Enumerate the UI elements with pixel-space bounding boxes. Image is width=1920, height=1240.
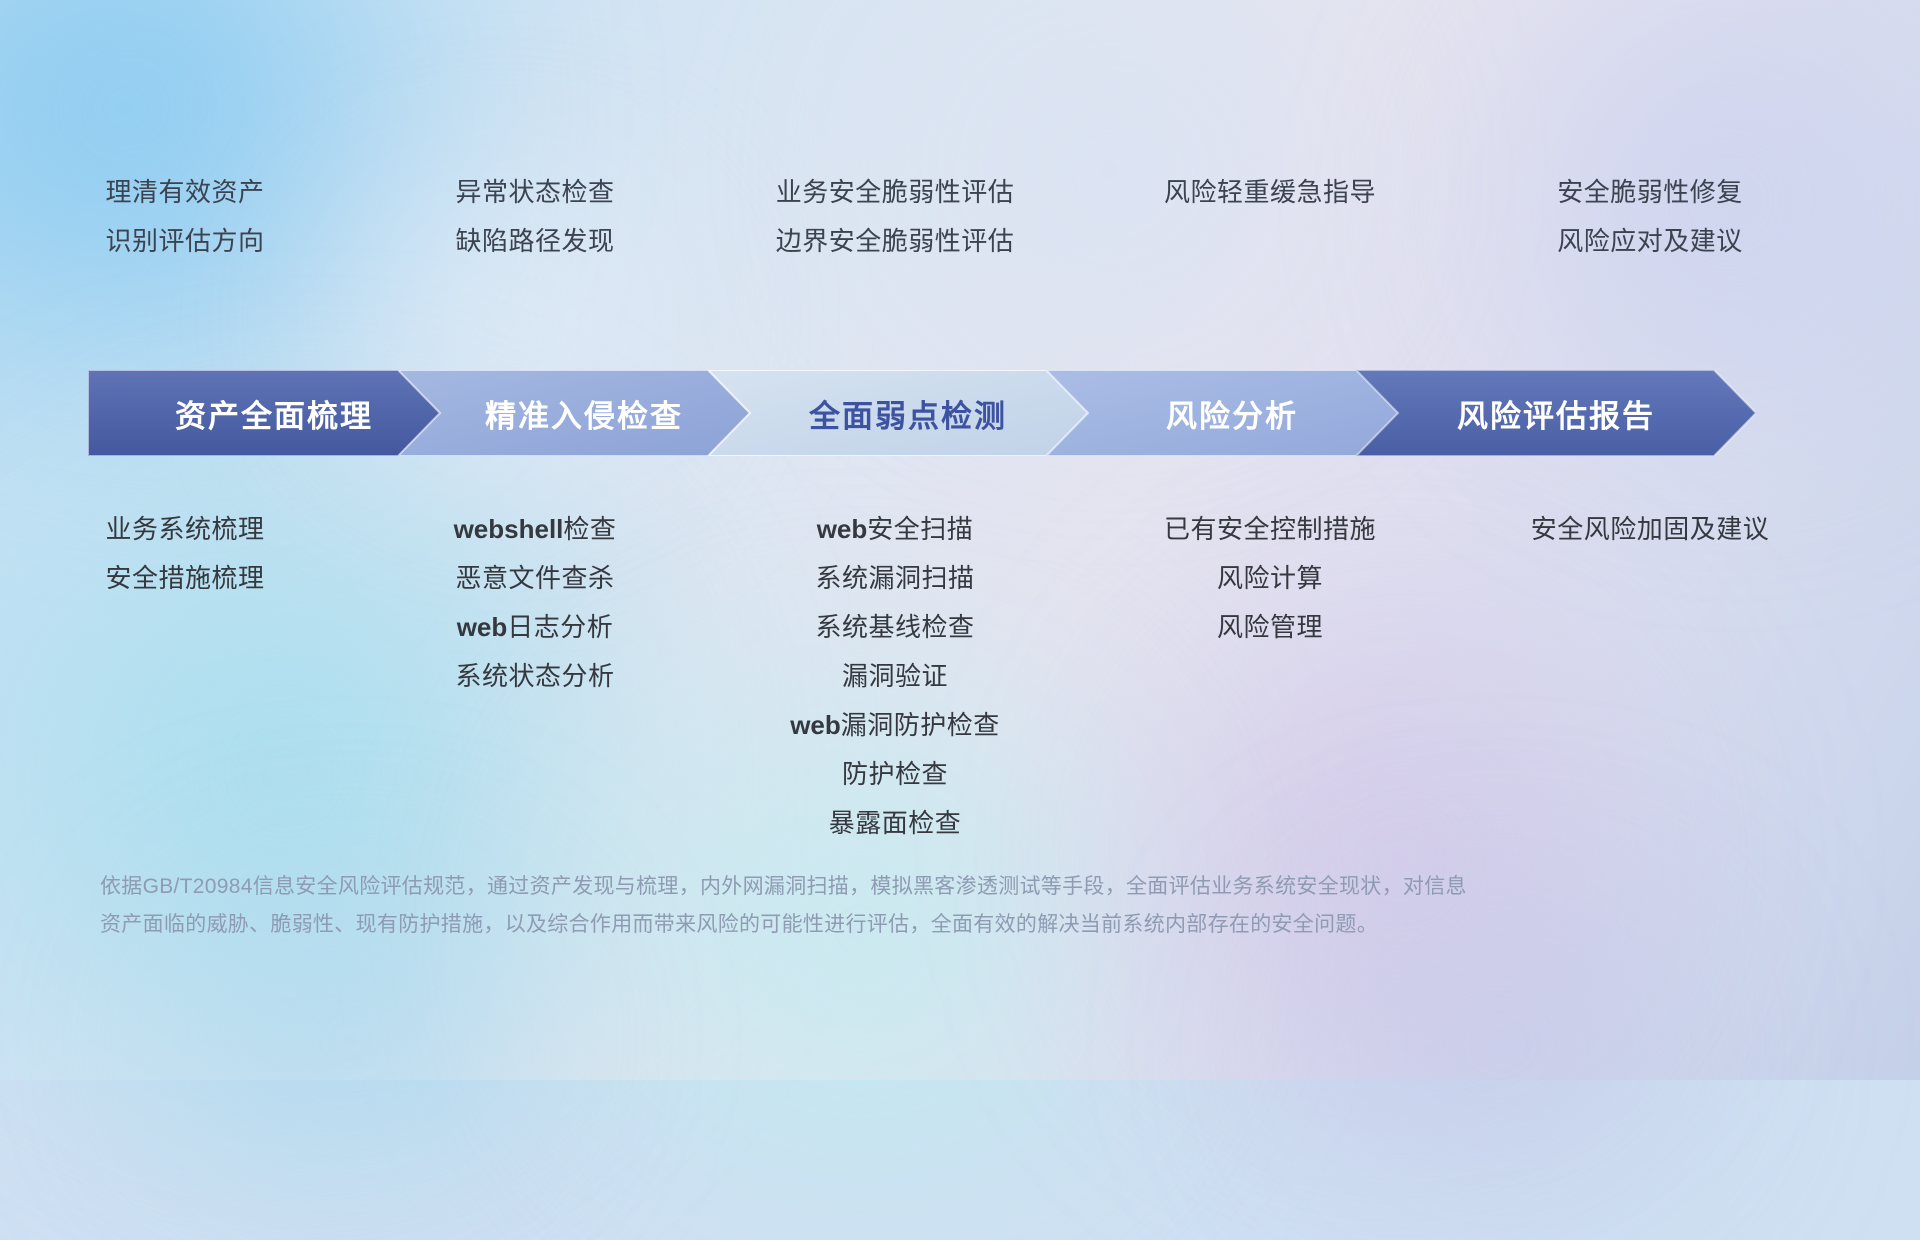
bottom-label: 漏洞验证 [842,652,948,701]
top-labels-stage-3: 业务安全脆弱性评估 边界安全脆弱性评估 [700,168,1090,298]
latin-token: web [457,612,508,642]
top-label-row: 理清有效资产 识别评估方向 异常状态检查 缺陷路径发现 业务安全脆弱性评估 边界… [0,168,1920,298]
bottom-label: 风险计算 [1217,554,1323,603]
latin-token: web [790,710,841,740]
chevron-title: 精准入侵检查 [485,391,683,436]
bottom-label-row: 业务系统梳理 安全措施梳理 webshell检查 恶意文件查杀 web日志分析 … [0,505,1920,845]
cjk-token: 安全扫描 [867,514,973,544]
top-labels-stage-5: 安全脆弱性修复 风险应对及建议 [1450,168,1850,298]
bottom-labels-stage-3: web安全扫描 系统漏洞扫描 系统基线检查 漏洞验证 web漏洞防护检查 防护检… [700,505,1090,845]
footer-line-1: 依据GB/T20984信息安全风险评估规范，通过资产发现与梳理，内外网漏洞扫描，… [100,868,1640,906]
bottom-label: 系统漏洞扫描 [815,554,974,603]
cjk-token: 恶意文件查杀 [455,563,614,593]
process-diagram: 理清有效资产 识别评估方向 异常状态检查 缺陷路径发现 业务安全脆弱性评估 边界… [0,0,1920,1080]
bottom-label: web安全扫描 [817,505,974,554]
top-label: 风险应对及建议 [1557,217,1743,266]
top-labels-stage-4: 风险轻重缓急指导 [1090,168,1450,298]
chevron-title: 资产全面梳理 [175,391,373,436]
cjk-token: 系统状态分析 [455,661,614,691]
bottom-label: 安全措施梳理 [105,554,264,603]
cjk-token: 系统漏洞扫描 [815,563,974,593]
top-labels-stage-1: 理清有效资产 识别评估方向 [0,168,370,298]
cjk-token: 检查 [563,514,616,544]
bottom-label: 风险管理 [1217,603,1323,652]
latin-token: web [817,514,868,544]
bottom-labels-stage-5: 安全风险加固及建议 [1450,505,1850,845]
bottom-label: 系统基线检查 [815,603,974,652]
chevron-stage-5[interactable]: 风险评估报告 [1356,370,1756,456]
bottom-label: web日志分析 [457,603,614,652]
bottom-label: 业务系统梳理 [105,505,264,554]
bottom-label: 系统状态分析 [455,652,614,701]
bottom-label: 恶意文件查杀 [455,554,614,603]
bottom-labels-stage-4: 已有安全控制措施 风险计算 风险管理 [1090,505,1450,845]
bottom-label: webshell检查 [454,505,617,554]
top-label: 异常状态检查 [455,168,614,217]
top-label: 理清有效资产 [105,168,264,217]
process-chevron-band: 资产全面梳理 精准入侵检查 [88,370,1848,456]
top-label: 业务安全脆弱性评估 [776,168,1015,217]
latin-token: webshell [454,514,564,544]
bottom-labels-stage-2: webshell检查 恶意文件查杀 web日志分析 系统状态分析 [370,505,700,845]
cjk-token: 暴露面检查 [829,808,962,838]
top-label: 风险轻重缓急指导 [1164,168,1376,217]
chevron-title: 风险分析 [1166,391,1298,436]
chevron-title: 全面弱点检测 [809,391,1007,436]
top-label: 安全脆弱性修复 [1557,168,1743,217]
bottom-label: web漏洞防护检查 [790,701,1000,750]
cjk-token: 漏洞防护检查 [841,710,1000,740]
bottom-label: 防护检查 [842,750,948,799]
top-label: 缺陷路径发现 [455,217,614,266]
top-label: 识别评估方向 [105,217,264,266]
cjk-token: 日志分析 [507,612,613,642]
top-labels-stage-2: 异常状态检查 缺陷路径发现 [370,168,700,298]
bottom-label: 已有安全控制措施 [1164,505,1376,554]
bottom-labels-stage-1: 业务系统梳理 安全措施梳理 [0,505,370,845]
top-label: 边界安全脆弱性评估 [776,217,1015,266]
footer-description: 依据GB/T20984信息安全风险评估规范，通过资产发现与梳理，内外网漏洞扫描，… [100,868,1640,944]
footer-line-2: 资产面临的威胁、脆弱性、现有防护措施，以及综合作用而带来风险的可能性进行评估，全… [100,906,1640,944]
cjk-token: 防护检查 [842,759,948,789]
bottom-label: 暴露面检查 [829,799,962,848]
chevron-title: 风险评估报告 [1457,391,1655,436]
bottom-label: 安全风险加固及建议 [1531,505,1770,554]
cjk-token: 系统基线检查 [815,612,974,642]
cjk-token: 漏洞验证 [842,661,948,691]
